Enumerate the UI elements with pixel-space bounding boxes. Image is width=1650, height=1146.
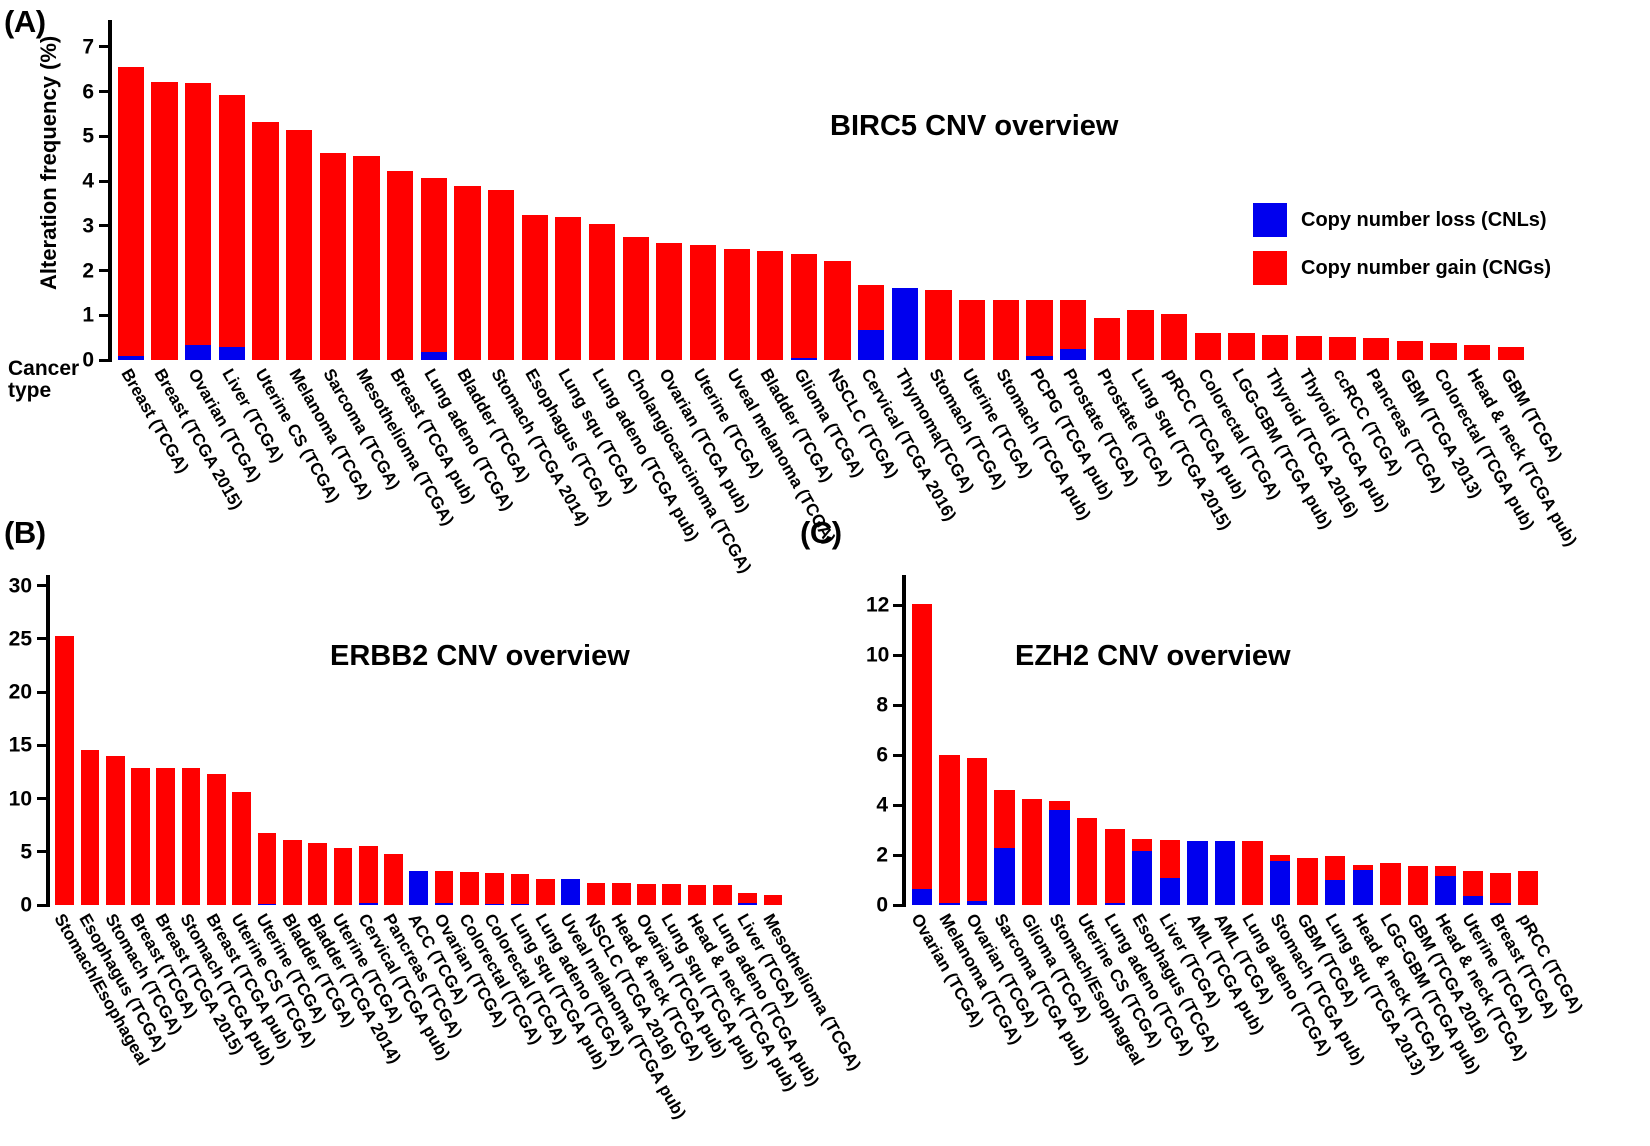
bar-group[interactable]: [178, 575, 203, 905]
stacked-bar[interactable]: [1325, 856, 1345, 905]
bar-segment-gain: [1464, 345, 1490, 360]
bar-group[interactable]: [686, 20, 720, 360]
bar-segment-gain: [207, 774, 226, 905]
bar-group[interactable]: [684, 575, 709, 905]
y-tick-label: 5: [72, 126, 94, 147]
stacked-bar[interactable]: [353, 156, 379, 360]
stacked-bar[interactable]: [55, 636, 74, 905]
bar-group[interactable]: [585, 20, 619, 360]
stacked-bar[interactable]: [454, 186, 480, 360]
stacked-bar[interactable]: [283, 840, 302, 905]
y-tick: [37, 904, 46, 907]
stacked-bar[interactable]: [151, 82, 177, 360]
bar-group[interactable]: [1239, 575, 1267, 905]
bar-group[interactable]: [735, 575, 760, 905]
bar-segment-gain: [1161, 314, 1187, 360]
bar-group[interactable]: [1377, 575, 1405, 905]
stacked-bar[interactable]: [387, 171, 413, 360]
panel-letter-c: (C): [800, 515, 842, 551]
bar-group[interactable]: [619, 20, 653, 360]
stacked-bar[interactable]: [118, 67, 144, 360]
bar-segment-gain: [286, 130, 312, 360]
bar-group[interactable]: [484, 20, 518, 360]
bar-group[interactable]: [330, 575, 355, 905]
bar-segment-loss: [738, 903, 757, 905]
bar-group[interactable]: [1129, 575, 1157, 905]
stacked-bar[interactable]: [1380, 863, 1400, 906]
bar-segment-gain: [688, 885, 707, 905]
bar-group[interactable]: [1294, 575, 1322, 905]
stacked-bar[interactable]: [207, 774, 226, 905]
bar-segment-loss: [1049, 810, 1069, 905]
y-tick-label: 0: [72, 350, 94, 371]
y-tick: [37, 744, 46, 747]
bar-group[interactable]: [936, 575, 964, 905]
stacked-bar[interactable]: [637, 884, 656, 905]
bar-segment-gain: [182, 768, 201, 905]
stacked-bar[interactable]: [1408, 866, 1428, 905]
stacked-bar[interactable]: [488, 190, 514, 360]
bar-group[interactable]: [1124, 20, 1158, 360]
bar-segment-gain: [1026, 300, 1052, 356]
bars-c: [908, 575, 1542, 905]
bar-segment-loss: [485, 904, 504, 905]
bar-segment-gain: [662, 884, 681, 905]
y-tick: [37, 584, 46, 587]
bar-group[interactable]: [955, 20, 989, 360]
stacked-bar[interactable]: [561, 879, 580, 905]
bar-group[interactable]: [1157, 20, 1191, 360]
bar-group[interactable]: [991, 575, 1019, 905]
bar-segment-gain: [993, 300, 1019, 360]
stacked-bar[interactable]: [1060, 300, 1086, 360]
bar-group[interactable]: [653, 20, 687, 360]
bar-group[interactable]: [1292, 20, 1326, 360]
bar-group[interactable]: [854, 20, 888, 360]
bar-group[interactable]: [457, 575, 482, 905]
stacked-bar[interactable]: [182, 768, 201, 905]
stacked-bar[interactable]: [219, 95, 245, 360]
y-tick: [99, 269, 108, 272]
bar-segment-gain: [623, 237, 649, 360]
stacked-bar[interactable]: [1464, 345, 1490, 360]
stacked-bar[interactable]: [258, 833, 277, 905]
bar-segment-loss: [858, 330, 884, 360]
bar-group[interactable]: [753, 20, 787, 360]
stacked-bar[interactable]: [435, 871, 454, 905]
bar-segment-gain: [460, 872, 479, 905]
stacked-bar[interactable]: [1498, 347, 1524, 360]
stacked-bar[interactable]: [939, 755, 959, 905]
stacked-bar[interactable]: [1161, 314, 1187, 360]
bars-a: [114, 20, 1528, 360]
bar-group[interactable]: [1191, 20, 1225, 360]
stacked-bar[interactable]: [1242, 841, 1262, 905]
y-tick: [893, 754, 902, 757]
stacked-bar[interactable]: [662, 884, 681, 905]
bar-segment-gain: [858, 285, 884, 331]
bar-group[interactable]: [1393, 20, 1427, 360]
bar-group[interactable]: [922, 20, 956, 360]
legend-item-cng: Copy number gain (CNGs): [1253, 251, 1551, 285]
stacked-bar[interactable]: [967, 758, 987, 906]
stacked-bar[interactable]: [688, 885, 707, 905]
bar-group[interactable]: [316, 20, 350, 360]
bar-segment-gain: [320, 153, 346, 360]
bar-segment-loss: [939, 903, 959, 906]
bar-segment-gain: [724, 249, 750, 360]
y-tick-label: 6: [72, 81, 94, 102]
bar-group[interactable]: [963, 575, 991, 905]
bar-group[interactable]: [254, 575, 279, 905]
y-tick-label: 30: [0, 575, 32, 596]
stacked-bar[interactable]: [1195, 333, 1221, 360]
bar-group[interactable]: [52, 575, 77, 905]
bar-group[interactable]: [1514, 575, 1542, 905]
bar-segment-gain: [637, 884, 656, 905]
bar-segment-gain: [713, 885, 732, 905]
stacked-bar[interactable]: [308, 843, 327, 905]
stacked-bar[interactable]: [1435, 866, 1455, 905]
bar-group[interactable]: [908, 575, 936, 905]
bar-group[interactable]: [787, 20, 821, 360]
bars-b: [52, 575, 786, 905]
bar-segment-gain: [764, 895, 783, 905]
bar-group[interactable]: [153, 575, 178, 905]
stacked-bar[interactable]: [757, 251, 783, 360]
bar-group[interactable]: [760, 575, 785, 905]
stacked-bar[interactable]: [1329, 337, 1355, 360]
stacked-bar[interactable]: [1262, 335, 1288, 360]
stacked-bar[interactable]: [232, 792, 251, 905]
bar-segment-gain: [151, 82, 177, 360]
bar-segment-loss: [1435, 876, 1455, 905]
bar-segment-gain: [959, 300, 985, 360]
bar-group[interactable]: [1459, 575, 1487, 905]
bar-segment-gain: [1408, 866, 1428, 905]
bar-segment-loss: [1353, 870, 1373, 905]
bar-group[interactable]: [888, 20, 922, 360]
stacked-bar[interactable]: [1026, 300, 1052, 360]
stacked-bar[interactable]: [892, 288, 918, 360]
bar-segment-gain: [1435, 866, 1455, 876]
stacked-bar[interactable]: [656, 243, 682, 360]
stacked-bar[interactable]: [959, 300, 985, 360]
bar-segment-loss: [118, 356, 144, 360]
stacked-bar[interactable]: [359, 846, 378, 905]
bar-group[interactable]: [1258, 20, 1292, 360]
bar-segment-gain: [232, 792, 251, 905]
stacked-bar[interactable]: [1022, 799, 1042, 905]
y-axis-label-a: Alteration frequency (%): [36, 36, 62, 290]
bar-group[interactable]: [1018, 575, 1046, 905]
bar-group[interactable]: [215, 20, 249, 360]
stacked-bar[interactable]: [1132, 839, 1152, 905]
bar-group[interactable]: [533, 575, 558, 905]
bar-segment-gain: [1363, 338, 1389, 360]
plot-area-b: 051015202530: [46, 575, 786, 905]
bar-segment-gain: [1430, 343, 1456, 360]
stacked-bar[interactable]: [1270, 855, 1290, 905]
bar-group[interactable]: [609, 575, 634, 905]
y-axis-a: [108, 20, 112, 360]
bar-segment-gain: [1262, 335, 1288, 360]
bar-segment-gain: [334, 848, 353, 905]
bar-group[interactable]: [989, 20, 1023, 360]
bar-group[interactable]: [659, 575, 684, 905]
bar-group[interactable]: [1090, 20, 1124, 360]
stacked-bar[interactable]: [1297, 858, 1317, 906]
bar-segment-gain: [522, 215, 548, 360]
legend-swatch-cng: [1253, 251, 1287, 285]
bar-segment-gain: [967, 758, 987, 902]
bar-segment-gain: [656, 243, 682, 360]
stacked-bar[interactable]: [536, 879, 555, 905]
stacked-bar[interactable]: [320, 153, 346, 360]
bar-segment-loss: [258, 904, 277, 905]
stacked-bar[interactable]: [724, 249, 750, 360]
bar-group[interactable]: [482, 575, 507, 905]
bar-segment-gain: [1094, 318, 1120, 361]
bar-group[interactable]: [381, 575, 406, 905]
stacked-bar[interactable]: [131, 768, 150, 905]
y-tick-label: 1: [72, 305, 94, 326]
bar-group[interactable]: [431, 575, 456, 905]
panel-letter-a: (A): [4, 4, 46, 40]
stacked-bar[interactable]: [1463, 871, 1483, 905]
bar-group[interactable]: [634, 575, 659, 905]
bar-segment-gain: [587, 883, 606, 905]
bar-group[interactable]: [406, 575, 431, 905]
bar-segment-loss: [892, 288, 918, 360]
stacked-bar[interactable]: [993, 300, 1019, 360]
y-tick-label: 2: [72, 260, 94, 281]
bar-group[interactable]: [282, 20, 316, 360]
bar-group[interactable]: [229, 575, 254, 905]
bar-group[interactable]: [1156, 575, 1184, 905]
bar-group[interactable]: [558, 575, 583, 905]
bar-group[interactable]: [148, 20, 182, 360]
bar-segment-gain: [738, 893, 757, 903]
bar-group[interactable]: [1266, 575, 1294, 905]
stacked-bar[interactable]: [612, 883, 631, 905]
stacked-bar[interactable]: [156, 768, 175, 905]
bar-group[interactable]: [417, 20, 451, 360]
stacked-bar[interactable]: [1215, 841, 1235, 905]
stacked-bar[interactable]: [690, 245, 716, 360]
bar-segment-gain: [1060, 300, 1086, 350]
bar-segment-gain: [824, 261, 850, 360]
bar-segment-loss: [967, 901, 987, 905]
bar-group[interactable]: [249, 20, 283, 360]
stacked-bar[interactable]: [589, 224, 615, 360]
y-tick-label: 3: [72, 215, 94, 236]
stacked-bar[interactable]: [421, 178, 447, 360]
bar-group[interactable]: [1359, 20, 1393, 360]
bar-group[interactable]: [1101, 575, 1129, 905]
stacked-bar[interactable]: [1490, 873, 1510, 906]
stacked-bar[interactable]: [925, 290, 951, 360]
bar-segment-loss: [1270, 861, 1290, 905]
bar-group[interactable]: [1487, 575, 1515, 905]
y-tick: [37, 691, 46, 694]
y-tick: [893, 654, 902, 657]
y-tick: [99, 359, 108, 362]
bar-group[interactable]: [1427, 20, 1461, 360]
stacked-bar[interactable]: [511, 874, 530, 905]
stacked-bar[interactable]: [555, 217, 581, 360]
bar-group[interactable]: [1349, 575, 1377, 905]
y-tick-label: 10: [0, 788, 32, 809]
y-tick-label: 4: [866, 795, 888, 816]
bar-segment-gain: [536, 879, 555, 905]
y-axis-b: [46, 575, 50, 905]
stacked-bar[interactable]: [1397, 341, 1423, 360]
bar-segment-gain: [925, 290, 951, 360]
bar-group[interactable]: [350, 20, 384, 360]
stacked-bar[interactable]: [106, 756, 125, 905]
y-tick-label: 6: [866, 745, 888, 766]
bar-segment-gain: [1132, 839, 1152, 852]
stacked-bar[interactable]: [81, 750, 100, 905]
bar-segment-gain: [219, 95, 245, 348]
stacked-bar[interactable]: [1094, 318, 1120, 361]
bar-group[interactable]: [710, 575, 735, 905]
bar-group[interactable]: [305, 575, 330, 905]
bar-group[interactable]: [1184, 575, 1212, 905]
stacked-bar[interactable]: [384, 854, 403, 905]
bar-segment-loss: [1325, 880, 1345, 905]
bar-group[interactable]: [1326, 20, 1360, 360]
stacked-bar[interactable]: [791, 254, 817, 360]
chart-title-a: BIRC5 CNV overview: [830, 110, 1119, 143]
bar-group[interactable]: [1056, 20, 1090, 360]
stacked-bar[interactable]: [1430, 343, 1456, 360]
stacked-bar[interactable]: [286, 130, 312, 360]
bar-segment-loss: [1160, 878, 1180, 906]
bar-group[interactable]: [1225, 20, 1259, 360]
bar-segment-gain: [1242, 841, 1262, 905]
stacked-bar[interactable]: [764, 895, 783, 905]
bar-segment-gain: [1127, 310, 1153, 360]
bar-group[interactable]: [128, 575, 153, 905]
bar-segment-gain: [421, 178, 447, 352]
bar-group[interactable]: [583, 575, 608, 905]
bar-group[interactable]: [1046, 575, 1074, 905]
bar-group[interactable]: [280, 575, 305, 905]
bar-group[interactable]: [383, 20, 417, 360]
bar-segment-loss: [1463, 896, 1483, 905]
stacked-bar[interactable]: [738, 893, 757, 905]
bar-group[interactable]: [103, 575, 128, 905]
bar-segment-gain: [384, 854, 403, 905]
bar-group[interactable]: [114, 20, 148, 360]
stacked-bar[interactable]: [334, 848, 353, 905]
y-tick-label: 2: [866, 845, 888, 866]
bar-group[interactable]: [77, 575, 102, 905]
chart-title-b: ERBB2 CNV overview: [330, 640, 630, 673]
bar-segment-loss: [421, 352, 447, 360]
stacked-bar[interactable]: [1353, 865, 1373, 905]
bar-segment-gain: [1498, 347, 1524, 360]
stacked-bar[interactable]: [1187, 841, 1207, 905]
stacked-bar[interactable]: [1105, 829, 1125, 905]
bar-group[interactable]: [1321, 575, 1349, 905]
bar-group[interactable]: [1494, 20, 1528, 360]
bar-group[interactable]: [204, 575, 229, 905]
stacked-bar[interactable]: [1160, 840, 1180, 905]
stacked-bar[interactable]: [1077, 818, 1097, 906]
bar-group[interactable]: [1460, 20, 1494, 360]
stacked-bar[interactable]: [587, 883, 606, 905]
bar-group[interactable]: [1211, 575, 1239, 905]
bar-segment-gain: [912, 604, 932, 889]
bar-group[interactable]: [1073, 575, 1101, 905]
bar-segment-loss: [1490, 903, 1510, 906]
bar-group[interactable]: [1432, 575, 1460, 905]
bar-group[interactable]: [356, 575, 381, 905]
stacked-bar[interactable]: [185, 83, 211, 360]
bar-group[interactable]: [821, 20, 855, 360]
bar-segment-gain: [106, 756, 125, 905]
bar-group[interactable]: [1404, 575, 1432, 905]
stacked-bar[interactable]: [1363, 338, 1389, 360]
stacked-bar[interactable]: [1296, 336, 1322, 360]
bar-group[interactable]: [1023, 20, 1057, 360]
bar-segment-gain: [1077, 818, 1097, 906]
bar-segment-gain: [994, 790, 1014, 848]
bar-segment-loss: [1187, 841, 1207, 905]
bar-group[interactable]: [181, 20, 215, 360]
stacked-bar[interactable]: [460, 872, 479, 905]
stacked-bar[interactable]: [713, 885, 732, 905]
stacked-bar[interactable]: [858, 285, 884, 360]
bar-group[interactable]: [507, 575, 532, 905]
bar-segment-loss: [994, 848, 1014, 906]
stacked-bar[interactable]: [623, 237, 649, 360]
bar-segment-gain: [939, 755, 959, 903]
legend-item-cnl: Copy number loss (CNLs): [1253, 203, 1551, 237]
bar-group[interactable]: [552, 20, 586, 360]
bar-segment-gain: [1463, 871, 1483, 896]
bar-group[interactable]: [518, 20, 552, 360]
bar-segment-loss: [409, 871, 428, 905]
y-tick-label: 8: [866, 695, 888, 716]
bar-segment-loss: [561, 879, 580, 905]
bar-segment-gain: [454, 186, 480, 360]
stacked-bar[interactable]: [409, 871, 428, 905]
bar-segment-gain: [791, 254, 817, 357]
y-tick-label: 10: [866, 645, 888, 666]
stacked-bar[interactable]: [485, 873, 504, 905]
bar-group[interactable]: [451, 20, 485, 360]
stacked-bar[interactable]: [1518, 871, 1538, 905]
stacked-bar[interactable]: [1228, 333, 1254, 360]
stacked-bar[interactable]: [912, 604, 932, 905]
bar-segment-gain: [488, 190, 514, 360]
stacked-bar[interactable]: [522, 215, 548, 360]
stacked-bar[interactable]: [252, 122, 278, 360]
bar-segment-gain: [1325, 856, 1345, 880]
bar-segment-gain: [1105, 829, 1125, 903]
stacked-bar[interactable]: [994, 790, 1014, 905]
bar-group[interactable]: [720, 20, 754, 360]
stacked-bar[interactable]: [824, 261, 850, 360]
stacked-bar[interactable]: [1127, 310, 1153, 360]
bar-segment-loss: [1105, 903, 1125, 906]
stacked-bar[interactable]: [1049, 801, 1069, 905]
bar-segment-gain: [81, 750, 100, 905]
